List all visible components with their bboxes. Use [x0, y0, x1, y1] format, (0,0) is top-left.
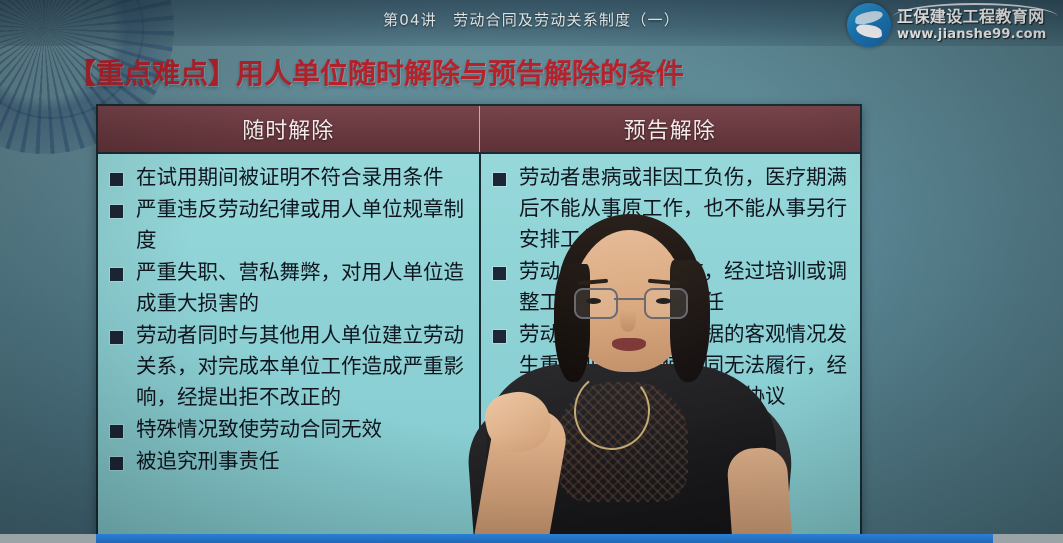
brand-url: www.jianshe99.com: [897, 28, 1063, 42]
list-item: 劳动者患病或非因工负伤，医疗期满后不能从事原工作，也不能从事另行安排工作的: [487, 162, 852, 255]
table-cell-immediate-termination: 在试用期间被证明不符合录用条件 严重违反劳动纪律或用人单位规章制度 严重失职、营…: [98, 154, 479, 543]
player-strip-left-cap: [0, 534, 96, 543]
brand-logo[interactable]: 正保建设工程教育网 www.jianshe99.com: [841, 0, 1063, 50]
z-swoosh-logo-icon: [847, 3, 891, 47]
table-header-row: 随时解除 预告解除: [98, 106, 860, 154]
bullet-list-advance-notice: 劳动者患病或非因工负伤，医疗期满后不能从事原工作，也不能从事另行安排工作的 劳动…: [487, 162, 852, 412]
table-body: 在试用期间被证明不符合录用条件 严重违反劳动纪律或用人单位规章制度 严重失职、营…: [98, 154, 860, 543]
list-item: 严重失职、营私舞弊，对用人单位造成重大损害的: [104, 257, 471, 319]
video-player-screen: 第04讲 劳动合同及劳动关系制度（一） 正保建设工程教育网 www.jiansh…: [0, 0, 1063, 543]
table-header-immediate-termination: 随时解除: [98, 106, 479, 152]
slide-comparison-table: 随时解除 预告解除 在试用期间被证明不符合录用条件 严重违反劳动纪律或用人单位规…: [96, 104, 862, 543]
slide-heading: 【重点难点】用人单位随时解除与预告解除的条件: [68, 52, 684, 92]
player-strip-right-cap: [993, 534, 1063, 543]
player-progress-bar[interactable]: [0, 534, 1063, 543]
list-item: 特殊情况致使劳动合同无效: [104, 414, 471, 445]
table-cell-advance-notice-termination: 劳动者患病或非因工负伤，医疗期满后不能从事原工作，也不能从事另行安排工作的 劳动…: [479, 154, 860, 543]
list-item: 劳动者不能胜任工作，经过培训或调整工作岗位仍不能胜任: [487, 256, 852, 318]
brand-name: 正保建设工程教育网: [897, 9, 1063, 26]
list-item: 被追究刑事责任: [104, 446, 471, 477]
list-item: 在试用期间被证明不符合录用条件: [104, 162, 471, 193]
brand-text-block: 正保建设工程教育网 www.jianshe99.com: [897, 9, 1063, 41]
list-item: 劳动合同订立时所依据的客观情况发生重大变化，致使合同无法履行，经协商不能就变更合…: [487, 319, 852, 412]
list-item: 劳动者同时与其他用人单位建立劳动关系，对完成本单位工作造成严重影响，经提出拒不改…: [104, 320, 471, 413]
bullet-list-immediate: 在试用期间被证明不符合录用条件 严重违反劳动纪律或用人单位规章制度 严重失职、营…: [104, 162, 471, 477]
list-item: 严重违反劳动纪律或用人单位规章制度: [104, 194, 471, 256]
table-header-advance-notice-termination: 预告解除: [479, 106, 861, 152]
